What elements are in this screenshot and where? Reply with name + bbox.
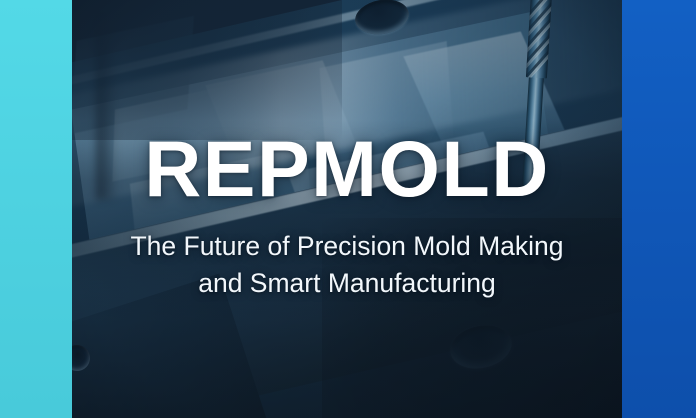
tagline-line-2: and Smart Manufacturing — [130, 265, 563, 303]
tagline-line-1: The Future of Precision Mold Making — [130, 228, 563, 266]
left-accent-band — [0, 0, 72, 418]
banner-tagline: The Future of Precision Mold Making and … — [130, 228, 563, 303]
right-accent-band — [622, 0, 696, 418]
hero-banner: REPMOLD The Future of Precision Mold Mak… — [0, 0, 696, 418]
brand-title: REPMOLD — [144, 131, 550, 207]
banner-text-block: REPMOLD The Future of Precision Mold Mak… — [72, 0, 622, 418]
